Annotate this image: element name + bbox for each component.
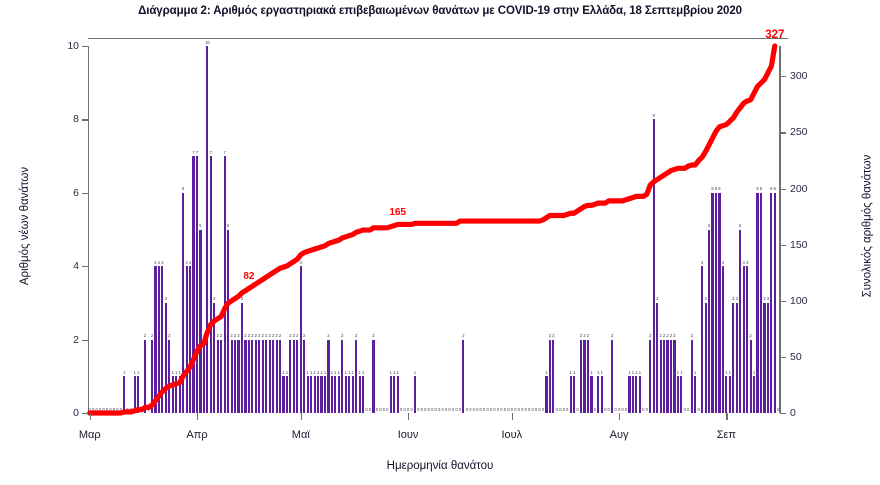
x-axis-tick-label: Απρ	[186, 429, 207, 441]
cumulative-value-label: 327	[765, 29, 784, 41]
x-axis-tick-label: Ιουν	[398, 429, 419, 441]
y-axis-left-title: Αριθμός νέων θανάτων	[14, 38, 36, 413]
x-axis-tick	[726, 413, 727, 420]
y-axis-right-tick-label: 250	[790, 126, 808, 138]
x-axis-tick	[197, 413, 198, 420]
y-axis-right-tick-label: 100	[790, 295, 808, 307]
y-axis-right-tick	[780, 132, 786, 133]
y-axis-right-tick-label: 200	[790, 183, 808, 195]
y-axis-left-tick-label: 10	[67, 40, 79, 52]
y-axis-left-tick	[82, 413, 88, 414]
y-axis-left-tick-label: 2	[73, 334, 79, 346]
y-axis-left-tick	[82, 266, 88, 267]
y-axis-left-tick	[82, 119, 88, 120]
cumulative-value-label: 82	[243, 271, 254, 282]
y-axis-right-tick	[780, 413, 786, 414]
y-axis-right-tick-label: 50	[790, 351, 802, 363]
cumulative-line	[90, 46, 775, 413]
y-axis-left-tick-label: 0	[73, 407, 79, 419]
y-axis-left-tick-label: 4	[73, 260, 79, 272]
y-axis-right-tick	[780, 245, 786, 246]
cumulative-value-label: 165	[389, 207, 406, 218]
y-axis-right-title: Συνολικός αριθμός θανάτων	[856, 38, 878, 413]
x-axis-tick-label: Σεπ	[717, 429, 736, 441]
y-axis-left-tick	[82, 340, 88, 341]
x-axis-tick	[408, 413, 409, 420]
y-axis-right-title-text: Συνολικός αριθμός θανάτων	[861, 154, 873, 297]
x-axis-tick	[90, 413, 91, 420]
plot-area: 0000000000100110202444321116447752107322…	[88, 38, 780, 413]
y-axis-left-tick	[82, 46, 88, 47]
x-axis-title: Ημερομηνία θανάτου	[0, 460, 880, 472]
x-axis-tick-label: Μαρ	[79, 429, 101, 441]
chart-root: Διάγραμμα 2: Αριθμός εργαστηριακά επιβεβ…	[0, 0, 880, 485]
y-axis-right-tick-label: 150	[790, 239, 808, 251]
cumulative-line-svg	[88, 38, 780, 413]
y-axis-left-tick-label: 6	[73, 187, 79, 199]
x-axis-tick-label: Αυγ	[610, 429, 629, 441]
y-axis-right-tick-label: 0	[790, 407, 796, 419]
y-axis-left-tick	[82, 193, 88, 194]
plot-frame: 0000000000100110202444321116447752107322…	[88, 38, 780, 413]
chart-title: Διάγραμμα 2: Αριθμός εργαστηριακά επιβεβ…	[0, 5, 880, 17]
y-axis-left-title-text: Αριθμός νέων θανάτων	[19, 166, 31, 284]
y-axis-left-tick-label: 8	[73, 113, 79, 125]
x-axis-tick	[512, 413, 513, 420]
x-axis-tick	[301, 413, 302, 420]
y-axis-right-tick	[780, 189, 786, 190]
x-axis-tick-label: Μαϊ	[292, 429, 310, 441]
y-axis-right-tick	[780, 357, 786, 358]
y-axis-right-tick	[780, 301, 786, 302]
x-axis-tick-label: Ιουλ	[501, 429, 522, 441]
y-axis-right-tick	[780, 76, 786, 77]
x-axis-tick	[619, 413, 620, 420]
y-axis-right-tick-label: 300	[790, 70, 808, 82]
